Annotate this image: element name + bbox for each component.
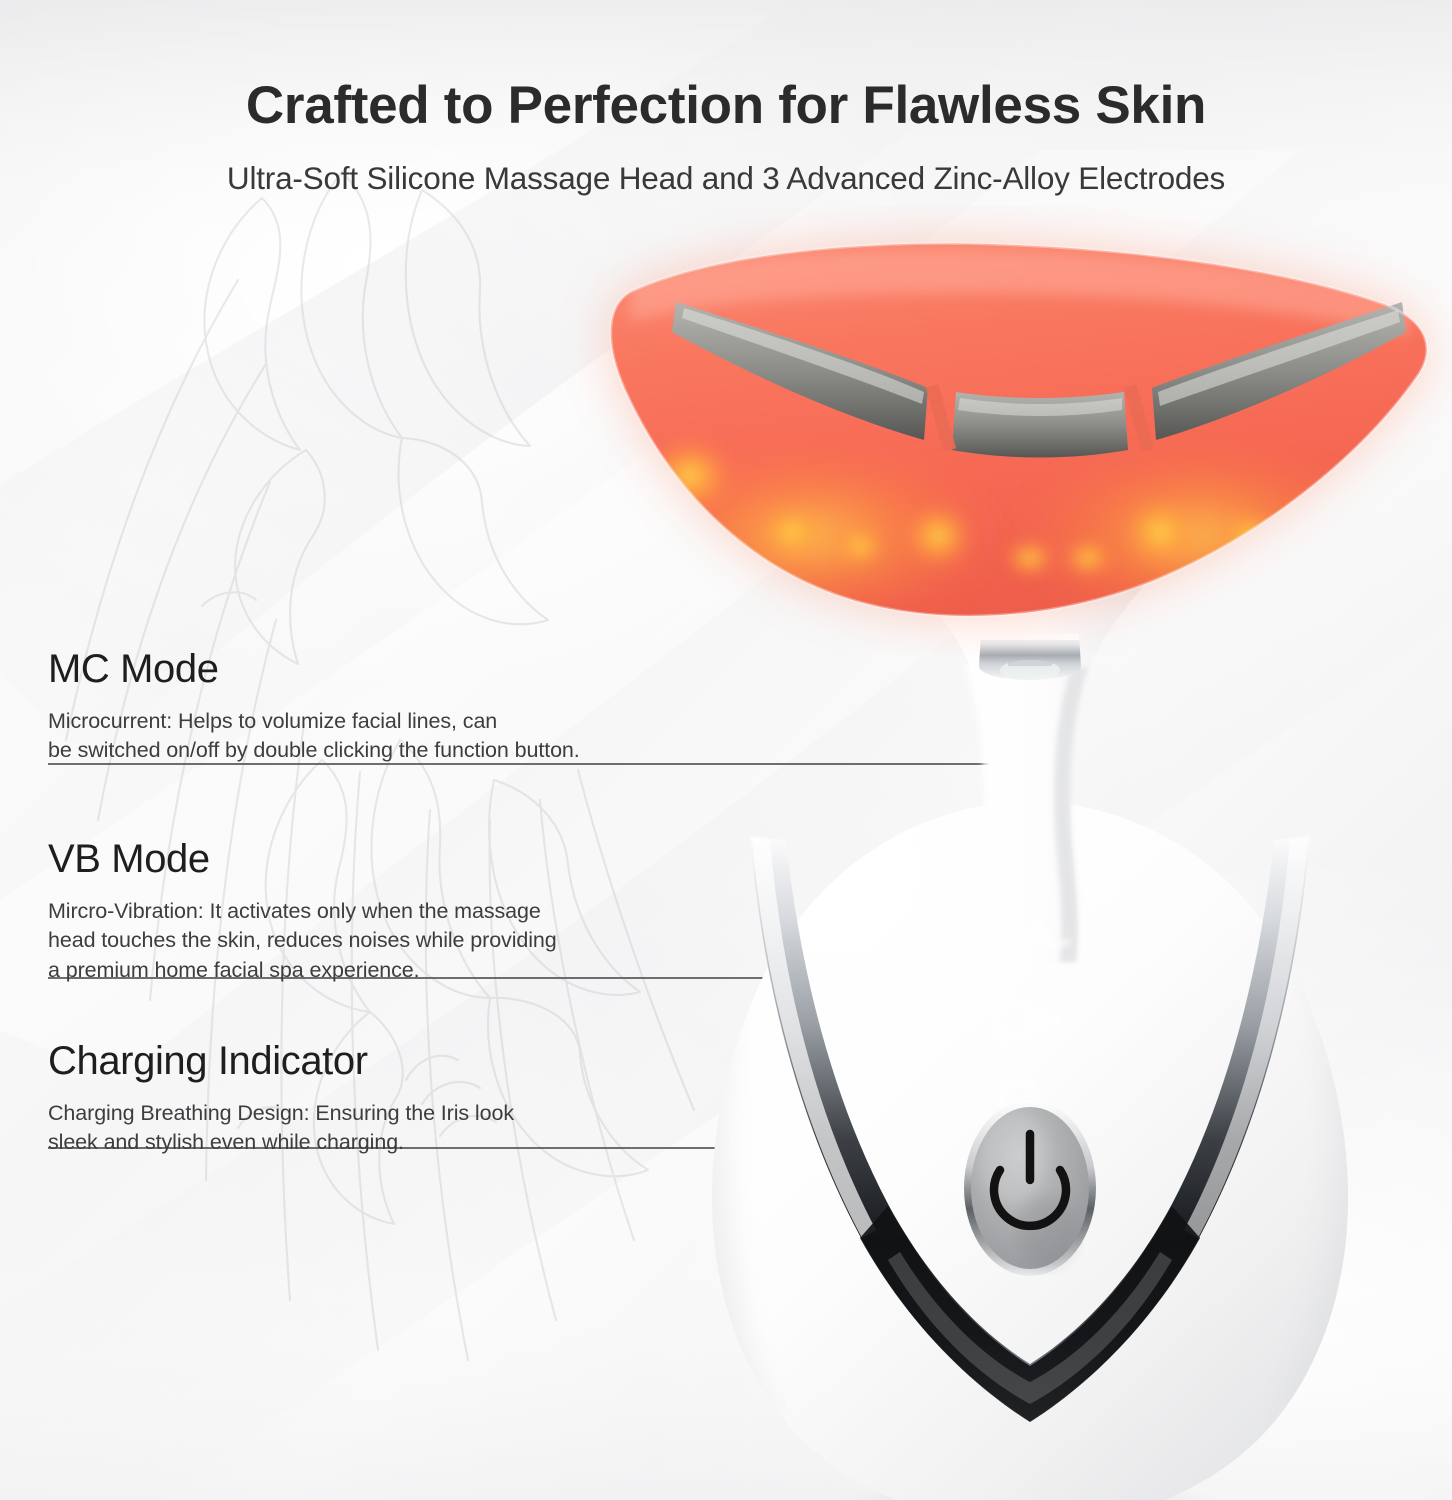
feature-title-charging-indicator: Charging Indicator	[48, 1040, 748, 1082]
chrome-v-accent-trim	[750, 836, 1310, 1422]
feature-title-mc-mode: MC Mode	[48, 648, 748, 690]
chrome-trim-shape	[750, 836, 1310, 1420]
battery-icon	[1002, 1080, 1036, 1130]
feature-block-mc-mode: MC Mode Microcurrent: Helps to volumize …	[48, 648, 748, 766]
device-neck	[856, 496, 1204, 962]
vibration-icon	[1000, 1002, 1056, 1040]
feature-body-mc-mode: Microcurrent: Helps to volumize facial l…	[48, 707, 748, 766]
feature-body-line: Mircro-Vibration: It activates only when…	[48, 897, 748, 926]
feature-block-charging-indicator: Charging Indicator Charging Breathing De…	[48, 1040, 748, 1158]
feature-body-line: Microcurrent: Helps to volumize facial l…	[48, 707, 748, 736]
page-title: Crafted to Perfection for Flawless Skin	[0, 78, 1452, 134]
header: Crafted to Perfection for Flawless Skin …	[0, 0, 1452, 197]
device-shadow	[840, 1478, 1220, 1500]
silicone-head-surface	[611, 243, 1427, 616]
zinc-alloy-electrodes	[672, 302, 1406, 458]
microcurrent-icon	[998, 926, 1068, 958]
power-symbol-icon	[994, 1134, 1066, 1226]
feature-body-line: Charging Breathing Design: Ensuring the …	[48, 1099, 748, 1128]
device-body	[680, 746, 1400, 1500]
feature-body-line: head touches the skin, reduces noises wh…	[48, 926, 748, 955]
power-button-face	[971, 1107, 1089, 1269]
electrode-left	[672, 302, 928, 440]
callout-dot-vb	[1012, 968, 1033, 989]
page-subtitle: Ultra-Soft Silicone Massage Head and 3 A…	[0, 160, 1452, 197]
callout-dot-ci	[1012, 1042, 1033, 1063]
product-infographic: Crafted to Perfection for Flawless Skin …	[0, 0, 1452, 1500]
feature-body-line: a premium home facial spa experience.	[48, 956, 748, 985]
feature-block-vb-mode: VB Mode Mircro-Vibration: It activates o…	[48, 838, 748, 985]
status-indicator-icons	[998, 926, 1068, 1130]
chrome-ring-band	[979, 634, 1081, 680]
feature-title-vb-mode: VB Mode	[48, 838, 748, 880]
feature-body-vb-mode: Mircro-Vibration: It activates only when…	[48, 897, 748, 985]
callout-dot-mc	[1012, 907, 1033, 928]
feature-body-line: be switched on/off by double clicking th…	[48, 736, 748, 765]
electrode-right	[1152, 302, 1406, 440]
feature-body-line: sleek and stylish even while charging.	[48, 1128, 748, 1157]
led-points	[644, 436, 1356, 578]
led-massage-head	[600, 243, 1440, 656]
feature-body-charging-indicator: Charging Breathing Design: Ensuring the …	[48, 1099, 748, 1158]
electrode-center	[952, 392, 1128, 458]
power-button	[964, 1100, 1096, 1276]
